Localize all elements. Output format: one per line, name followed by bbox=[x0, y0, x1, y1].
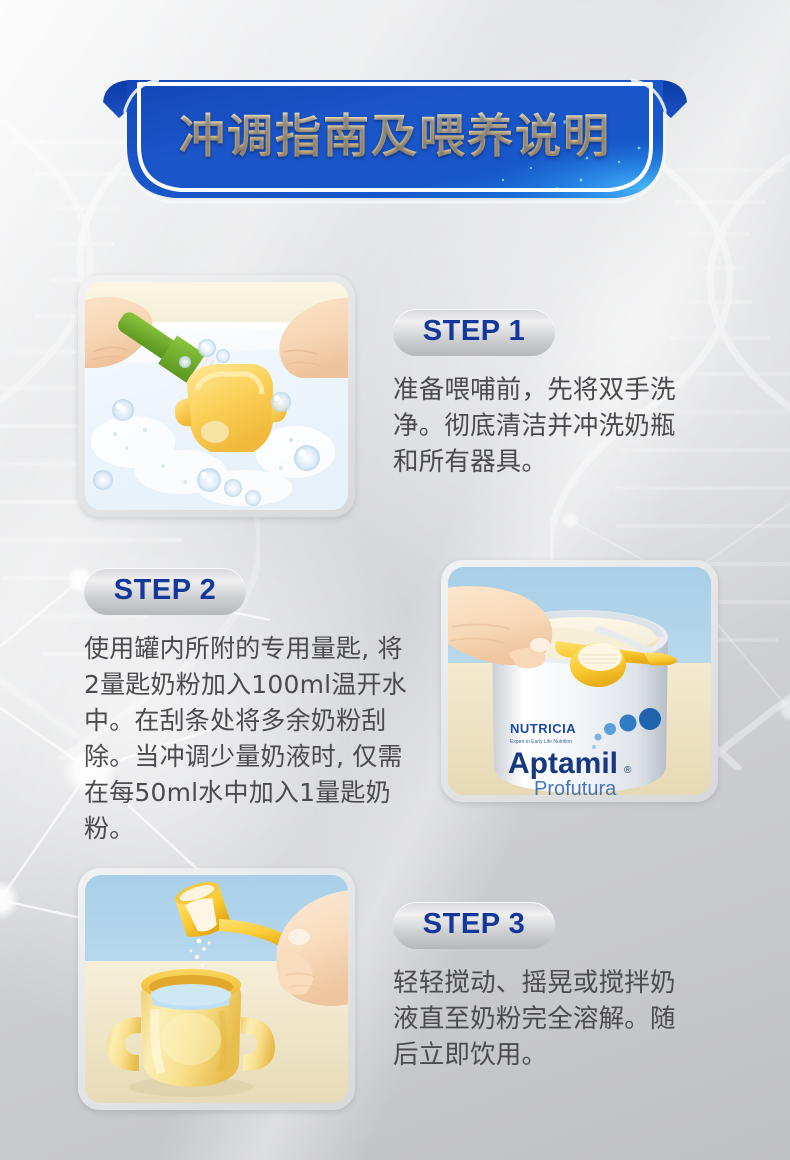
step-1-image-frame bbox=[78, 275, 355, 517]
step-3-badge: STEP 3 bbox=[393, 902, 555, 949]
washing-bottle-illustration bbox=[85, 282, 348, 510]
tin-brand-tagline: Expert in Early Life Nutrition bbox=[510, 739, 572, 745]
step-2-image-frame: NUTRICIA Expert in Early Life Nutrition … bbox=[441, 560, 718, 802]
promo-page: 冲调指南及喂养说明 bbox=[0, 0, 790, 1160]
step-2-badge: STEP 2 bbox=[84, 568, 246, 615]
tin-product-name: Aptamil bbox=[508, 747, 618, 780]
step-2-description: 使用罐内所附的专用量匙, 将2量匙奶粉加入100ml温开水中。在刮条处将多余奶粉… bbox=[84, 631, 414, 847]
step-1-description: 准备喂哺前，先将双手洗净。彻底清洁并冲洗奶瓶和所有器具。 bbox=[393, 372, 693, 480]
scooping-powder-illustration: NUTRICIA Expert in Early Life Nutrition … bbox=[448, 567, 711, 795]
step-2-text-column: STEP 2 使用罐内所附的专用量匙, 将2量匙奶粉加入100ml温开水中。在刮… bbox=[78, 560, 441, 847]
step-3-description: 轻轻搅动、摇晃或搅拌奶液直至奶粉完全溶解。随后立即饮用。 bbox=[393, 965, 693, 1073]
step-1-badge: STEP 1 bbox=[393, 309, 555, 356]
title-banner: 冲调指南及喂养说明 bbox=[95, 62, 695, 222]
step-block-2: NUTRICIA Expert in Early Life Nutrition … bbox=[78, 560, 718, 847]
step-3-text-column: STEP 3 轻轻搅动、摇晃或搅拌奶液直至奶粉完全溶解。随后立即饮用。 bbox=[355, 868, 718, 1073]
pouring-powder-illustration bbox=[85, 875, 348, 1103]
tin-product-sub: Profutura bbox=[534, 778, 617, 795]
step-block-3: STEP 3 轻轻搅动、摇晃或搅拌奶液直至奶粉完全溶解。随后立即饮用。 bbox=[78, 868, 718, 1110]
step-block-1: STEP 1 准备喂哺前，先将双手洗净。彻底清洁并冲洗奶瓶和所有器具。 bbox=[78, 275, 718, 517]
tin-registered-mark: ® bbox=[624, 765, 632, 776]
step-1-text-column: STEP 1 准备喂哺前，先将双手洗净。彻底清洁并冲洗奶瓶和所有器具。 bbox=[355, 275, 718, 480]
page-title: 冲调指南及喂养说明 bbox=[95, 100, 695, 166]
step-3-image-frame bbox=[78, 868, 355, 1110]
tin-brand-text: NUTRICIA bbox=[510, 721, 576, 736]
